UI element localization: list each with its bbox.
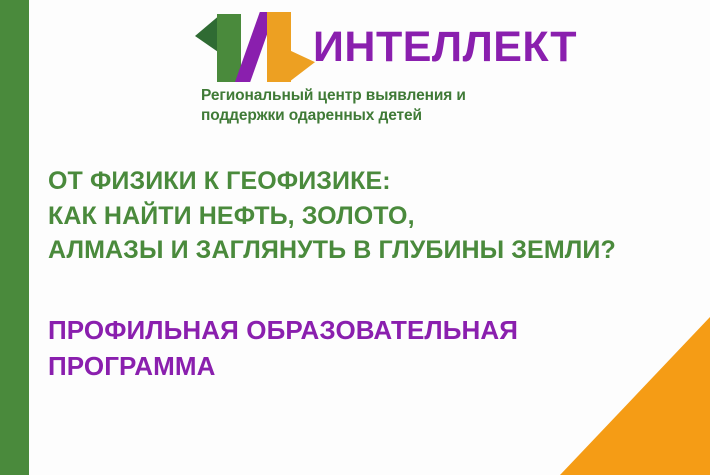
monogram-orange-bar-shape (267, 12, 291, 82)
headline-line-1: ОТ ФИЗИКИ К ГЕОФИЗИКЕ: (48, 164, 616, 199)
page-title: ОТ ФИЗИКИ К ГЕОФИЗИКЕ: КАК НАЙТИ НЕФТЬ, … (48, 164, 616, 268)
orange-corner-triangle (560, 317, 710, 475)
subheadline-line-1: ПРОФИЛЬНАЯ ОБРАЗОВАТЕЛЬНАЯ (48, 312, 518, 348)
logo-tagline: Региональный центр выявления и поддержки… (195, 86, 515, 125)
left-green-band (0, 0, 29, 475)
logo-wordmark: ИНТЕЛЛЕКТ (313, 26, 577, 69)
organization-logo: ИНТЕЛЛЕКТ Региональный центр выявления и… (195, 8, 515, 125)
monogram-orange-foot-shape (289, 50, 315, 82)
logo-tagline-line-2: поддержки одаренных детей (201, 106, 515, 126)
logo-mark-and-wordmark: ИНТЕЛЛЕКТ (195, 8, 515, 84)
logo-tagline-line-1: Региональный центр выявления и (201, 86, 515, 106)
intellect-monogram-icon (195, 8, 293, 82)
page-subtitle: ПРОФИЛЬНАЯ ОБРАЗОВАТЕЛЬНАЯ ПРОГРАММА (48, 312, 518, 385)
headline-line-2: КАК НАЙТИ НЕФТЬ, ЗОЛОТО, (48, 199, 616, 234)
subheadline-line-2: ПРОГРАММА (48, 348, 518, 384)
poster-canvas: ИНТЕЛЛЕКТ Региональный центр выявления и… (0, 0, 710, 475)
headline-line-3: АЛМАЗЫ И ЗАГЛЯНУТЬ В ГЛУБИНЫ ЗЕМЛИ? (48, 233, 616, 268)
monogram-green-stem-shape (217, 14, 241, 82)
